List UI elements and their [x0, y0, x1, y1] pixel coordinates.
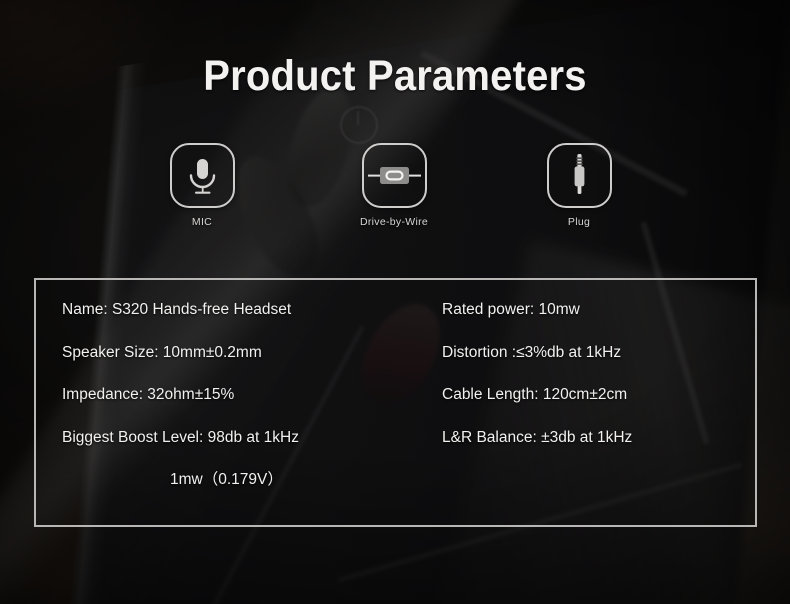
spec-item: Impedance: 32ohm±15%: [62, 387, 299, 403]
feature-plug: Plug: [519, 143, 639, 228]
spec-item: Speaker Size: 10mm±0.2mm: [62, 345, 299, 361]
inline-remote-control-icon: [362, 143, 427, 208]
spec-item: Distortion :≤3%db at 1kHz: [442, 345, 632, 361]
specs-column-right: Rated power: 10mw Distortion :≤3%db at 1…: [442, 302, 632, 472]
specs-column-left: Name: S320 Hands-free Headset Speaker Si…: [62, 302, 299, 488]
feature-label: Drive-by-Wire: [334, 216, 454, 228]
feature-label: MIC: [142, 216, 262, 228]
audio-jack-plug-icon: [547, 143, 612, 208]
feature-mic: MIC: [142, 143, 262, 228]
microphone-icon: [170, 143, 235, 208]
page-title: Product Parameters: [28, 52, 763, 101]
feature-drive-by-wire: Drive-by-Wire: [334, 143, 454, 228]
spec-item: Rated power: 10mw: [442, 302, 632, 318]
spec-item: Cable Length: 120cm±2cm: [442, 387, 632, 403]
spec-item: L&R Balance: ±3db at 1kHz: [442, 430, 632, 446]
product-parameters-banner: Product Parameters MIC: [0, 0, 790, 604]
spec-item: Biggest Boost Level: 98db at 1kHz: [62, 430, 299, 446]
feature-icon-row: MIC Drive-by-Wire: [0, 143, 790, 243]
spec-item: Name: S320 Hands-free Headset: [62, 302, 299, 318]
specifications-frame: Name: S320 Hands-free Headset Speaker Si…: [34, 278, 757, 527]
feature-label: Plug: [519, 216, 639, 228]
spec-item-continuation: 1mw（0.179V）: [62, 472, 299, 488]
